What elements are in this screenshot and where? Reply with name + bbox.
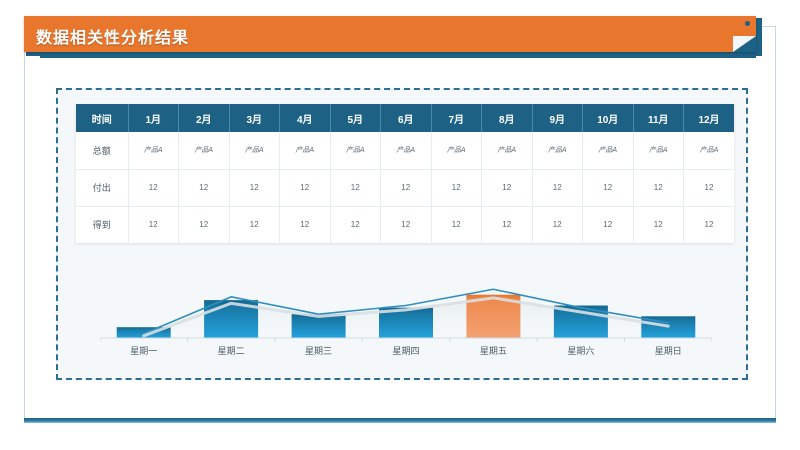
table-cell: 12 [684,206,735,243]
table-cell: 12 [229,169,280,206]
table-cell: 产品A [179,132,230,169]
table-header-cell-month: 8月 [482,104,533,132]
table-cell: 12 [330,206,381,243]
table-cell: 12 [583,169,634,206]
chart-category-label: 星期六 [538,344,624,357]
table-header-cell-month: 5月 [330,104,381,132]
table-row-label: 得到 [76,206,128,243]
table-header-cell-month: 4月 [280,104,331,132]
slide-bottom-accent-bar [24,418,776,423]
table-cell: 12 [381,169,432,206]
chart-category-label: 星期五 [450,344,536,357]
table-cell: 12 [532,169,583,206]
table-header-cell-month: 2月 [179,104,230,132]
slide-root: 数据相关性分析结果 时间1月2月3月4月5月6月7月8月9月10月11月12月 … [0,0,800,450]
table-cell: 12 [128,169,179,206]
table-cell: 12 [431,206,482,243]
table-row-label: 总额 [76,132,128,169]
chart-category-label: 星期二 [188,344,274,357]
table-cell: 12 [684,169,735,206]
table-cell: 产品A [684,132,735,169]
chart-category-label: 星期日 [625,344,711,357]
table-cell: 12 [280,206,331,243]
table-cell: 12 [280,169,331,206]
table-row: 得到121212121212121212121212 [76,206,734,243]
chart-category-label: 星期三 [276,344,362,357]
table-cell: 12 [633,169,684,206]
table-cell: 12 [128,206,179,243]
table-cell: 12 [532,206,583,243]
chart-category-labels: 星期一星期二星期三星期四星期五星期六星期日 [100,344,712,362]
table-row: 付出121212121212121212121212 [76,169,734,206]
chart-category-label: 星期一 [101,344,187,357]
table-cell: 12 [381,206,432,243]
table-header-cell-month: 9月 [532,104,583,132]
table-cell: 12 [633,206,684,243]
table-cell: 12 [179,169,230,206]
table-header-cell-month: 7月 [431,104,482,132]
table-header-cell-month: 3月 [229,104,280,132]
table-cell: 产品A [128,132,179,169]
table-cell: 产品A [583,132,634,169]
table-cell: 12 [229,206,280,243]
banner-underline [40,52,756,58]
chart-axis-ticks [100,338,712,342]
table-header-cell-month: 10月 [583,104,634,132]
table-cell: 产品A [229,132,280,169]
chart-category-label: 星期四 [363,344,449,357]
table-cell: 12 [482,169,533,206]
table-header-cell-month: 1月 [128,104,179,132]
table-cell: 产品A [633,132,684,169]
table-row: 总额产品A产品A产品A产品A产品A产品A产品A产品A产品A产品A产品A产品A [76,132,734,169]
table-cell: 12 [583,206,634,243]
table-cell: 12 [179,206,230,243]
table-cell: 产品A [280,132,331,169]
table-cell: 产品A [532,132,583,169]
table-cell: 产品A [431,132,482,169]
table-header-row: 时间1月2月3月4月5月6月7月8月9月10月11月12月 [76,104,734,132]
table-cell: 12 [330,169,381,206]
table-cell: 产品A [330,132,381,169]
correlation-table: 时间1月2月3月4月5月6月7月8月9月10月11月12月 总额产品A产品A产品… [76,104,734,243]
table-row-label: 付出 [76,169,128,206]
table-cell: 产品A [482,132,533,169]
page-title: 数据相关性分析结果 [36,24,189,48]
corner-dot-icon [745,21,750,26]
table-header-cell-month: 6月 [381,104,432,132]
table-cell: 12 [431,169,482,206]
table-header-cell-month: 11月 [633,104,684,132]
table-cell: 产品A [381,132,432,169]
table-cell: 12 [482,206,533,243]
table-header-cell-time: 时间 [76,104,128,132]
table-header-cell-month: 12月 [684,104,735,132]
